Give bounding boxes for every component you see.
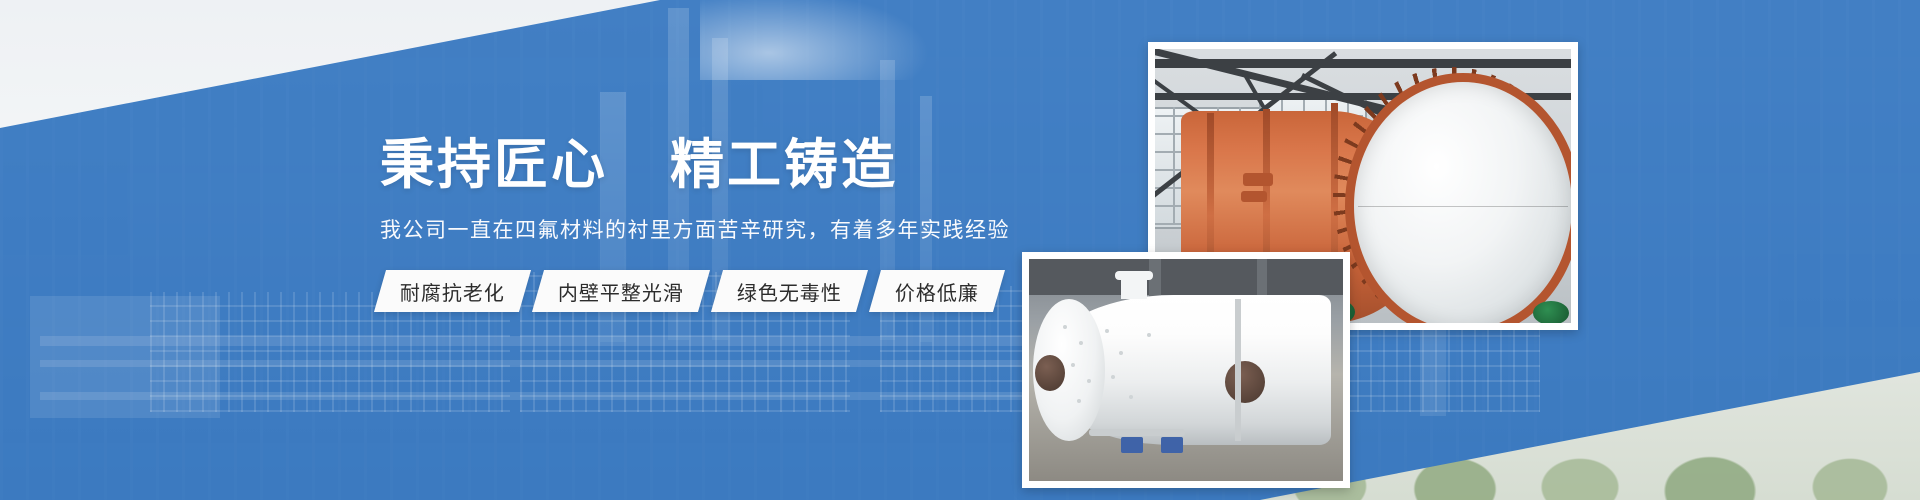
banner-headline: 秉持匠心 精工铸造: [380, 138, 1100, 192]
feature-tag-3-label: 价格低廉: [895, 277, 979, 306]
headline-part-2: 精工铸造: [670, 135, 898, 195]
feature-tag-1-label: 内壁平整光滑: [558, 277, 684, 306]
feature-tag-list: 耐腐抗老化 内壁平整光滑 绿色无毒性 价格低廉: [380, 270, 1100, 312]
feature-tag-3[interactable]: 价格低廉: [869, 270, 1005, 312]
headline-part-1: 秉持匠心: [380, 135, 608, 195]
product-photo-white-vessel[interactable]: [1022, 252, 1350, 488]
banner-copy-block: 秉持匠心 精工铸造 我公司一直在四氟材料的衬里方面苦辛研究，有着多年实践经验 耐…: [380, 138, 1100, 312]
banner-subtitle: 我公司一直在四氟材料的衬里方面苦辛研究，有着多年实践经验: [380, 214, 1100, 244]
product-photo-white-vessel-image: [1029, 259, 1343, 481]
feature-tag-0-label: 耐腐抗老化: [400, 277, 505, 306]
feature-tag-2[interactable]: 绿色无毒性: [711, 270, 868, 312]
feature-tag-1[interactable]: 内壁平整光滑: [532, 270, 710, 312]
feature-tag-0[interactable]: 耐腐抗老化: [374, 270, 531, 312]
feature-tag-2-label: 绿色无毒性: [737, 277, 842, 306]
promo-banner: 秉持匠心 精工铸造 我公司一直在四氟材料的衬里方面苦辛研究，有着多年实践经验 耐…: [0, 0, 1920, 500]
